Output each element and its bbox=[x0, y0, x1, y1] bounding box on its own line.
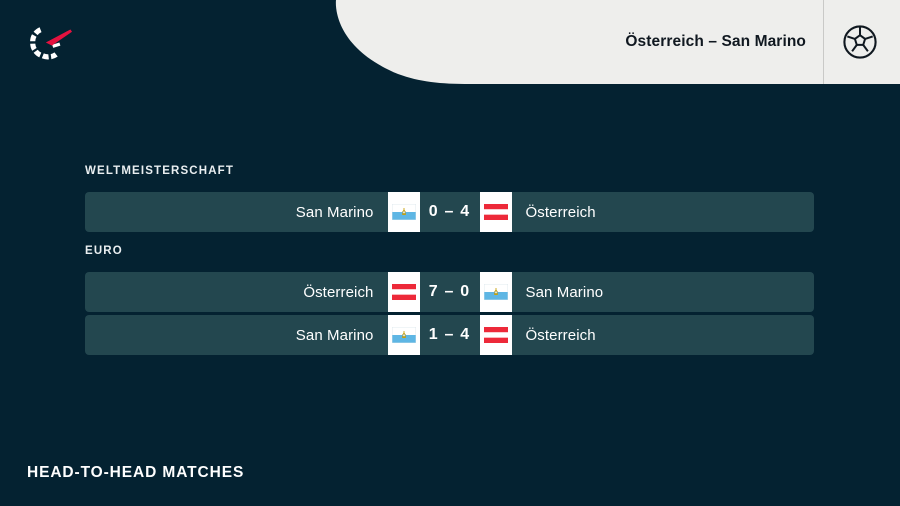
match-row[interactable]: San Marino 1 – 4 bbox=[85, 315, 814, 355]
football-icon[interactable] bbox=[842, 24, 878, 60]
screenshot-root: Österreich – San Marino WELTMEISTERSCHAF… bbox=[0, 0, 900, 506]
away-team-name: Österreich bbox=[512, 327, 800, 344]
home-team-name: San Marino bbox=[100, 327, 388, 344]
kicker-logo[interactable] bbox=[26, 22, 74, 64]
page-title: Österreich – San Marino bbox=[625, 33, 823, 51]
header-divider bbox=[823, 0, 824, 84]
away-team-name: Österreich bbox=[512, 204, 800, 221]
section-label-euro: EURO bbox=[85, 245, 123, 257]
head-to-head-content: WELTMEISTERSCHAFT San Marino 0 – 4 bbox=[0, 86, 900, 506]
match-score: 1 – 4 bbox=[420, 326, 480, 344]
flag-austria bbox=[480, 315, 512, 355]
flag-san-marino bbox=[388, 192, 420, 232]
page-header: Österreich – San Marino bbox=[0, 0, 900, 86]
header-right-group: Österreich – San Marino bbox=[625, 0, 900, 84]
flag-san-marino bbox=[388, 315, 420, 355]
flag-austria bbox=[388, 272, 420, 312]
match-row[interactable]: San Marino 0 – 4 bbox=[85, 192, 814, 232]
home-team-name: Österreich bbox=[100, 284, 388, 301]
section-label-weltmeisterschaft: WELTMEISTERSCHAFT bbox=[85, 165, 234, 177]
match-row[interactable]: Österreich 7 – 0 bbox=[85, 272, 814, 312]
match-score: 7 – 0 bbox=[420, 283, 480, 301]
home-team-name: San Marino bbox=[100, 204, 388, 221]
away-team-name: San Marino bbox=[512, 284, 800, 301]
match-score: 0 – 4 bbox=[420, 203, 480, 221]
flag-austria bbox=[480, 192, 512, 232]
footer-label: HEAD-TO-HEAD MATCHES bbox=[27, 464, 244, 482]
flag-san-marino bbox=[480, 272, 512, 312]
